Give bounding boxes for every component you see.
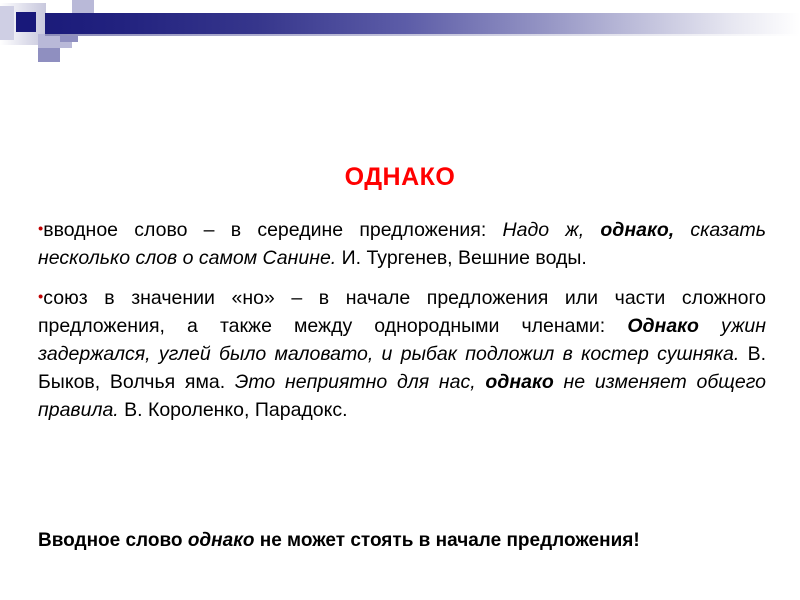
banner-square-mid-2 <box>38 48 60 62</box>
text-run: Однако <box>627 315 699 337</box>
text-run: однако <box>485 371 553 393</box>
text-run: Это неприятно для нас, <box>235 371 486 393</box>
slide-content: •вводное слово – в середине предложения:… <box>38 216 766 424</box>
text-run: вводное слово – в середине предложения: <box>43 219 502 241</box>
header-banner <box>0 0 800 60</box>
banner-square-light-1 <box>72 0 94 14</box>
banner-square-dark-1 <box>16 12 36 32</box>
text-run: В. Короленко, Парадокс. <box>119 399 348 421</box>
footer-statement: Вводное слово однако не может стоять в н… <box>38 528 766 554</box>
text-run: Надо ж, <box>503 219 601 241</box>
bullet-paragraph: •союз в значении «но» – в начале предлож… <box>38 284 766 424</box>
page-title: ОДНАКО <box>0 163 800 192</box>
banner-gradient-bar <box>45 13 800 34</box>
text-run: не может стоять в начале предложения! <box>254 530 639 551</box>
banner-underline <box>45 34 800 36</box>
text-run: однако <box>188 530 255 551</box>
bullet-paragraph: •вводное слово – в середине предложения:… <box>38 216 766 272</box>
text-run: И. Тургенев, Вешние воды. <box>336 247 587 269</box>
text-run: однако, <box>600 219 674 241</box>
text-run: Вводное слово <box>38 530 188 551</box>
banner-square-pale-1 <box>0 6 14 40</box>
